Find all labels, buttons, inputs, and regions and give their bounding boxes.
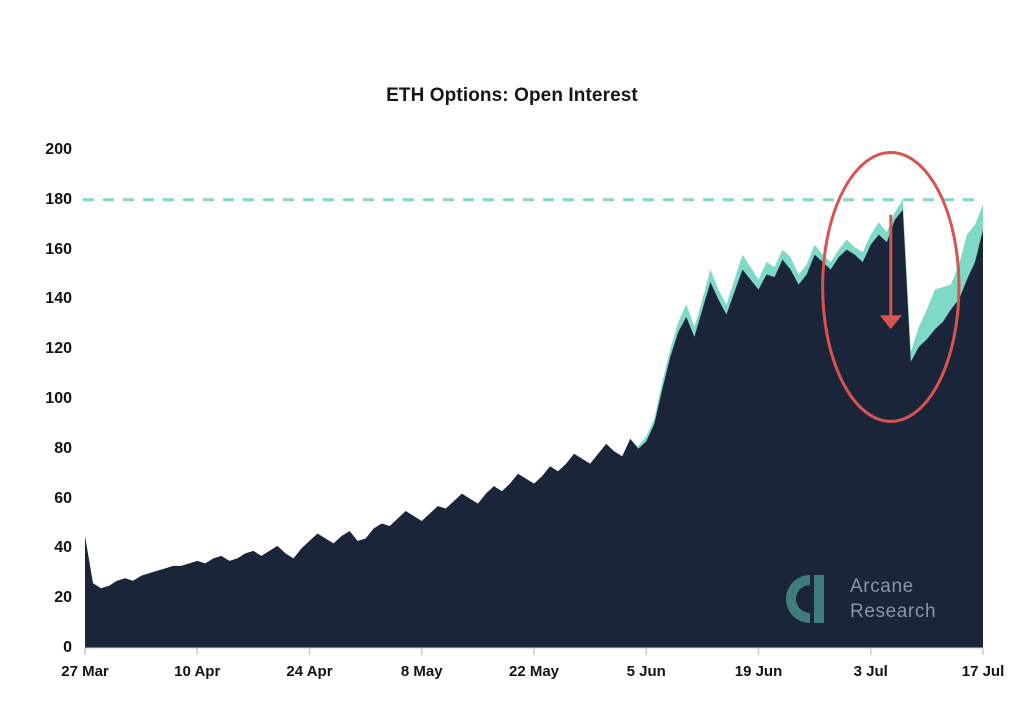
x-tick-label: 5 Jun bbox=[627, 663, 666, 680]
x-tick-label: 17 Jul bbox=[962, 663, 1005, 680]
x-tick-label: 10 Apr bbox=[174, 663, 220, 680]
plot-area bbox=[0, 0, 1024, 704]
x-tick-label: 19 Jun bbox=[735, 663, 783, 680]
chart-container: ETH Options: Open Interest 0204060801001… bbox=[0, 0, 1024, 704]
x-tick-label: 22 May bbox=[509, 663, 559, 680]
x-tick-label: 8 May bbox=[401, 663, 443, 680]
x-tick-label: 27 Mar bbox=[61, 663, 109, 680]
area-series-open-interest bbox=[85, 210, 983, 648]
x-axis: 27 Mar10 Apr24 Apr8 May22 May5 Jun19 Jun… bbox=[0, 663, 1024, 693]
x-tick-label: 3 Jul bbox=[854, 663, 888, 680]
x-tick-label: 24 Apr bbox=[286, 663, 332, 680]
